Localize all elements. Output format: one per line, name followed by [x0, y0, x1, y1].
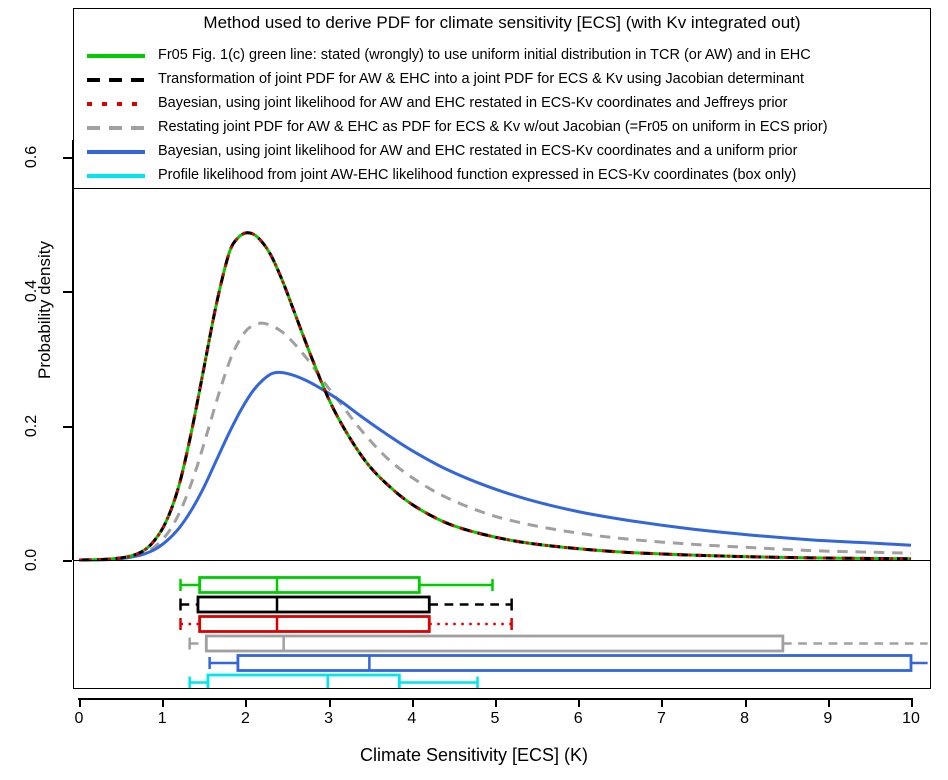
x-tick: [578, 698, 580, 707]
box-black: [198, 597, 429, 612]
boxplot-cyan: [190, 675, 478, 688]
x-tick: [412, 698, 414, 707]
x-tick: [745, 698, 747, 707]
y-tick-label: 0.2: [23, 406, 41, 446]
x-tick-label: 5: [475, 710, 515, 728]
y-tick: [63, 291, 72, 293]
box-red: [200, 617, 430, 632]
y-tick-label: 0.6: [23, 137, 41, 177]
x-tick-label: 3: [309, 710, 349, 728]
plot-area: [74, 9, 930, 688]
boxplot-blue: [210, 656, 928, 671]
x-tick-label: 2: [225, 710, 265, 728]
x-axis-title: Climate Sensitivity [ECS] (K): [0, 745, 948, 766]
y-tick: [63, 560, 72, 562]
chart-root: Method used to derive PDF for climate se…: [0, 0, 948, 780]
x-tick-label: 7: [641, 710, 681, 728]
x-tick: [495, 698, 497, 707]
y-axis-line: [72, 140, 74, 560]
y-tick-label: 0.4: [23, 271, 41, 311]
x-tick-label: 1: [142, 710, 182, 728]
x-tick: [245, 698, 247, 707]
zero-baseline: [74, 560, 930, 561]
x-tick: [911, 698, 913, 707]
x-tick: [661, 698, 663, 707]
x-tick-label: 4: [392, 710, 432, 728]
x-tick-label: 6: [558, 710, 598, 728]
box-cyan: [208, 675, 399, 688]
x-tick-label: 10: [891, 710, 931, 728]
y-tick: [63, 426, 72, 428]
x-tick: [828, 698, 830, 707]
x-tick: [79, 698, 81, 707]
x-tick: [162, 698, 164, 707]
boxplot-gray: [190, 636, 928, 651]
boxplot-group: [74, 9, 930, 688]
box-blue: [238, 656, 911, 671]
x-tick-label: 8: [725, 710, 765, 728]
x-tick-label: 9: [808, 710, 848, 728]
boxplot-black: [181, 597, 512, 612]
y-tick-label: 0.0: [23, 540, 41, 580]
box-green: [200, 578, 420, 593]
x-tick: [329, 698, 331, 707]
boxplot-green: [181, 578, 493, 593]
boxplot-red: [181, 617, 512, 632]
y-tick: [63, 157, 72, 159]
box-gray: [206, 636, 783, 651]
x-tick-label: 0: [59, 710, 99, 728]
